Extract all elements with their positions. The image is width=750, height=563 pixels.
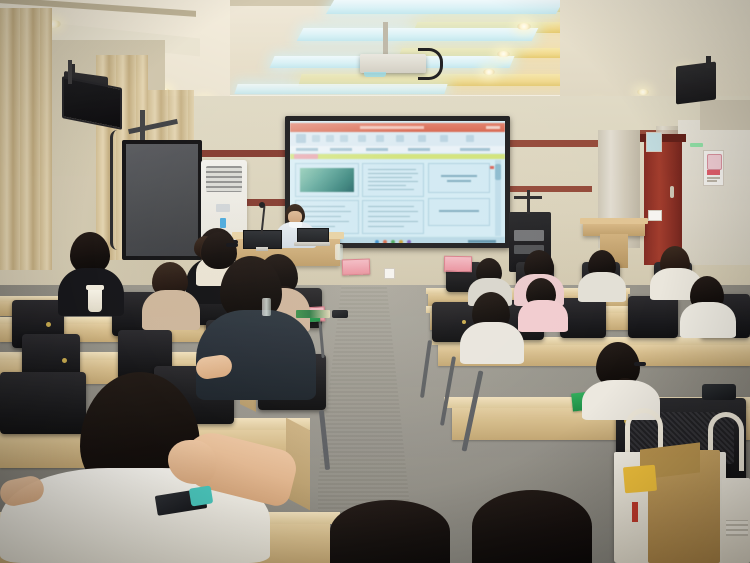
- student-body: [578, 272, 626, 302]
- desk-placard-pink-2: [444, 256, 472, 272]
- tote-bag-yellow-item: [623, 465, 657, 494]
- tv-mount-arm: [68, 60, 72, 84]
- sign-text-line: [707, 177, 720, 179]
- water-bottle: [335, 244, 343, 260]
- chair-knob: [46, 322, 51, 327]
- student-head-black-tee: [472, 490, 592, 563]
- wall-poster-left: [646, 132, 662, 152]
- led-panel: [297, 28, 539, 41]
- student-body: [460, 322, 524, 364]
- books-on-desk: [296, 310, 330, 318]
- tote-bag-red-mark: [632, 502, 638, 522]
- wall-accent-band: [508, 140, 604, 147]
- sign-icon: [707, 154, 722, 170]
- downlight: [517, 23, 531, 30]
- downlight: [637, 89, 649, 95]
- glasses: [226, 243, 238, 247]
- ac-display: [216, 204, 230, 212]
- rack-panel: [514, 230, 544, 241]
- monitor-cable: [110, 130, 125, 250]
- projector-lens: [364, 72, 386, 77]
- door-handle[interactable]: [670, 186, 674, 198]
- projector: [360, 54, 426, 73]
- led-panel: [326, 0, 564, 14]
- screen-glare: [290, 121, 505, 243]
- desk-placard-pink-1: [342, 259, 371, 276]
- window-curtain-left: [0, 8, 52, 270]
- chair[interactable]: [0, 372, 86, 434]
- projector-cable: [418, 48, 443, 80]
- exit-light: [690, 143, 703, 147]
- wall-outlet[interactable]: [384, 268, 395, 279]
- paper-cup-lid: [86, 285, 104, 290]
- speaker-bracket-right: [706, 56, 711, 68]
- sign-text-line: [707, 180, 717, 182]
- rack-stand-pole: [527, 190, 530, 214]
- phone-case-accent: [189, 485, 214, 506]
- paper-bag-label: [726, 520, 748, 536]
- rack-cross-arm: [514, 196, 542, 199]
- mobile-display-on-stand: [122, 140, 202, 260]
- led-panel: [234, 84, 447, 94]
- student-body: [680, 302, 736, 338]
- wall-panel-far-right: [700, 100, 750, 130]
- wall-panel-right: [678, 120, 750, 265]
- smartphone-on-desk[interactable]: [332, 310, 348, 318]
- ac-vent: [206, 166, 242, 192]
- microphone-head: [259, 202, 265, 208]
- student-body: [518, 300, 568, 332]
- downlight: [497, 51, 510, 57]
- wall-notice-sign: [703, 150, 724, 186]
- chair-knob: [462, 320, 466, 324]
- lectern-top-edge: [580, 218, 648, 224]
- chair-knob: [62, 358, 67, 363]
- downlight: [483, 69, 495, 75]
- screen-surface: [290, 121, 505, 243]
- lecture-hall-photo: [0, 0, 750, 563]
- paper-cup: [88, 288, 102, 312]
- laptop-base: [294, 242, 330, 246]
- wall-switch-plate[interactable]: [648, 210, 662, 221]
- glasses: [634, 362, 646, 366]
- water-bottle-desk: [262, 298, 271, 316]
- student-head: [330, 500, 450, 563]
- smartphone-on-desk-right[interactable]: [702, 384, 736, 400]
- projector-mount: [383, 22, 388, 54]
- sign-band: [707, 170, 720, 175]
- chair[interactable]: [628, 296, 678, 338]
- ac-indicator: [220, 218, 226, 228]
- student-body: [142, 290, 200, 330]
- desk-monitor-stand: [256, 247, 268, 251]
- wall-accent-band: [508, 186, 592, 192]
